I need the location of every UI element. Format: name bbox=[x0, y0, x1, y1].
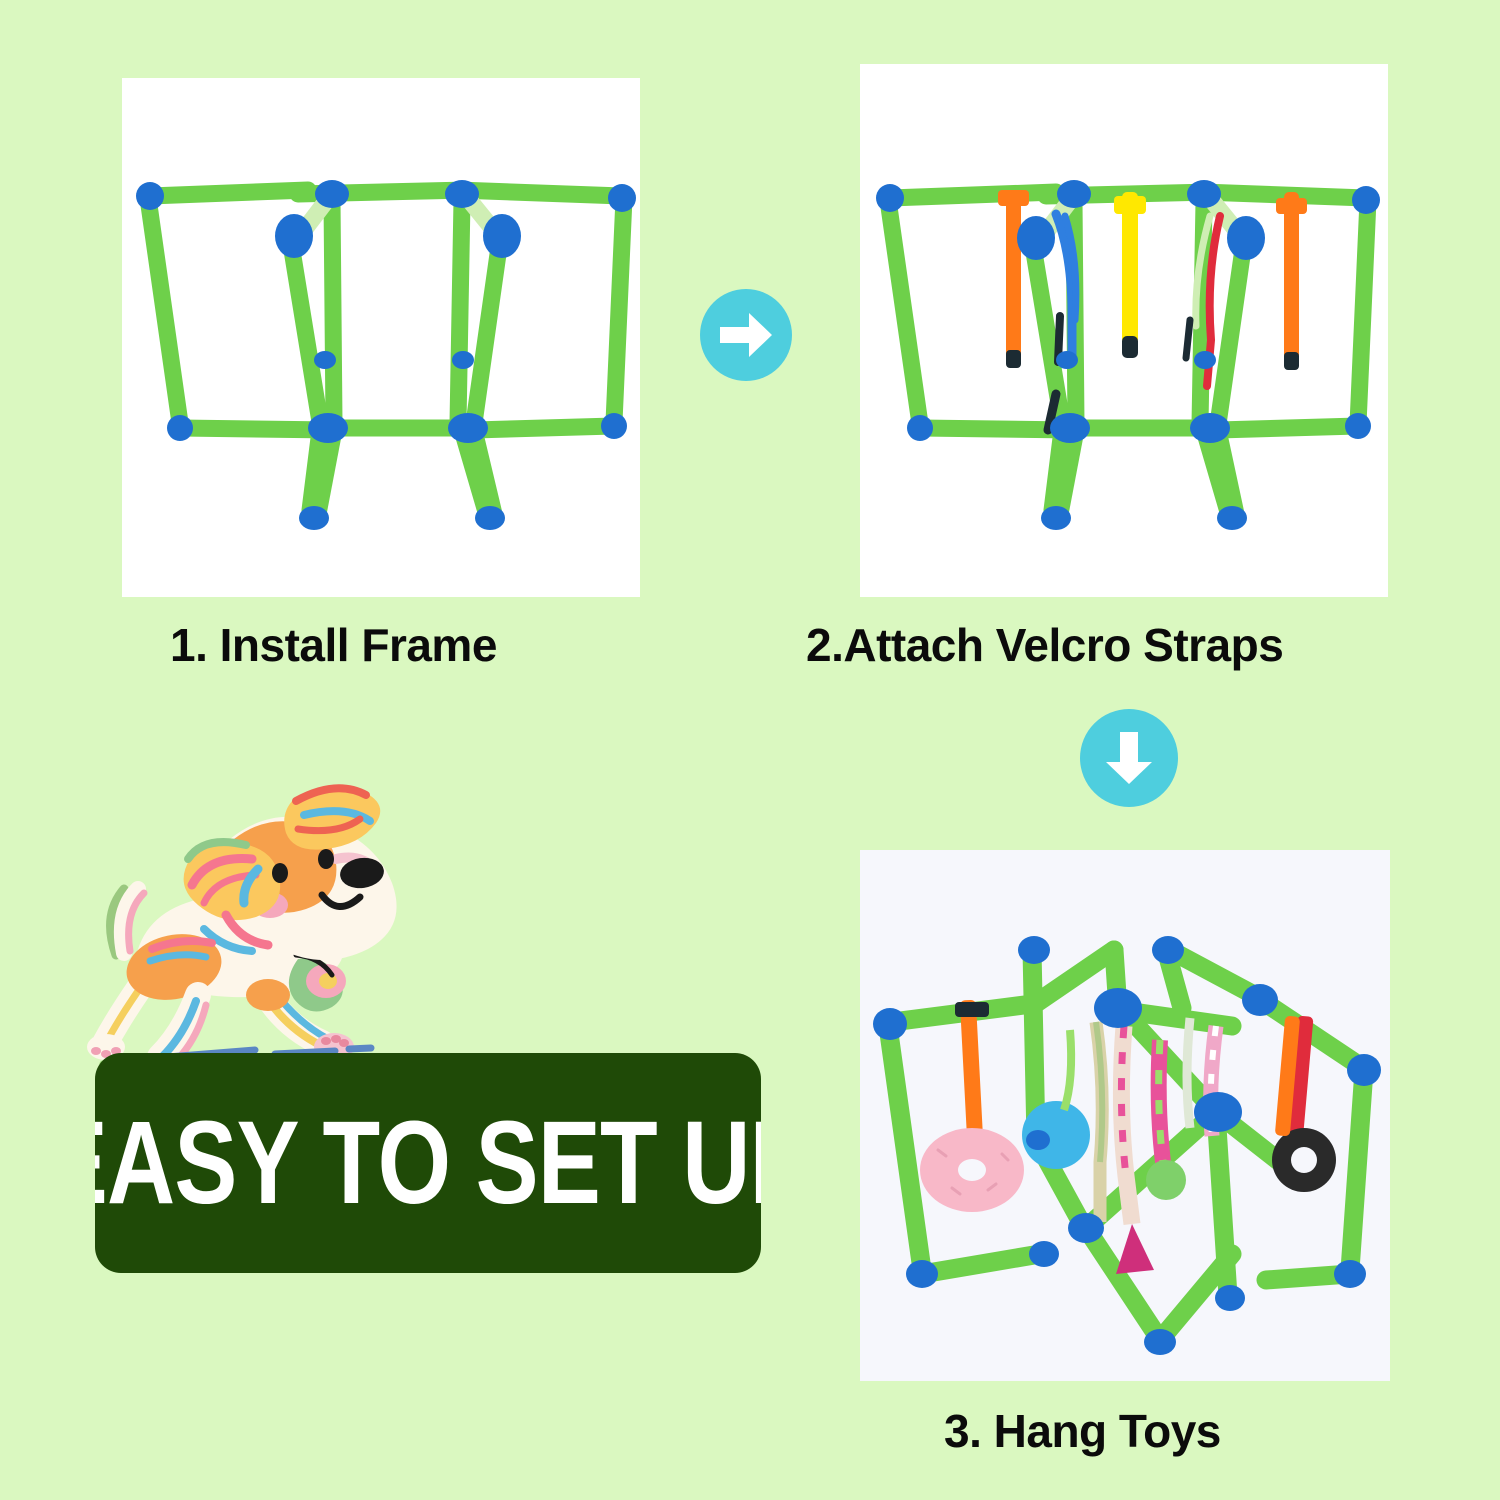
easy-setup-banner: EASY TO SET UP bbox=[95, 1053, 761, 1273]
infographic-root: 1. Install Frame 2.Attach Velcro Straps … bbox=[0, 0, 1500, 1500]
arrow-down-icon bbox=[1080, 709, 1178, 807]
step-3-caption: 3. Hang Toys bbox=[944, 1404, 1221, 1458]
step-2-photo bbox=[860, 64, 1388, 597]
step-1-photo bbox=[122, 78, 640, 597]
arrow-right-icon bbox=[700, 289, 792, 381]
step-3-photo bbox=[860, 850, 1390, 1381]
easy-setup-banner-text: EASY TO SET UP bbox=[95, 1104, 761, 1222]
step-1-caption: 1. Install Frame bbox=[170, 618, 497, 672]
step-2-caption: 2.Attach Velcro Straps bbox=[806, 618, 1283, 672]
running-dog-illustration bbox=[80, 755, 420, 1085]
